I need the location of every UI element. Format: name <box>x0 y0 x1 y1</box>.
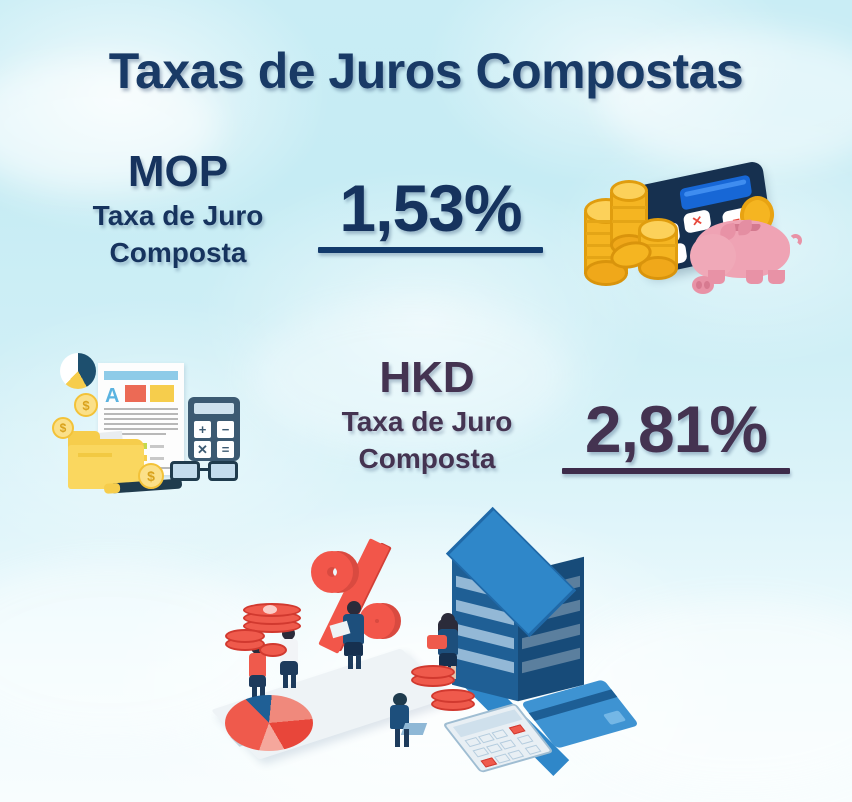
calculator-icon: + − ✕ = <box>188 397 240 461</box>
calculator-key-equals: = <box>217 441 234 458</box>
calculator-key-multiply: ✕ <box>194 441 211 458</box>
infographic-poster: Taxas de Juros Compostas MOP Taxa de Jur… <box>0 0 852 802</box>
card-chip <box>603 710 626 725</box>
rate-value-block-hkd: 2,81% <box>562 396 790 474</box>
piggybank-icon <box>690 208 798 286</box>
person-figure <box>341 601 367 669</box>
coins-calculator-piggybank-illustration: ✕ + − ÷ = <box>582 160 818 300</box>
rate-sublabel-mop-line2: Composta <box>28 236 328 269</box>
piggybank-leg <box>746 270 763 284</box>
calculator-key-minus: − <box>217 421 234 438</box>
isometric-percent-building-people-illustration <box>225 505 600 795</box>
calculator-key-plus: + <box>194 421 211 438</box>
rate-underline-hkd <box>562 468 790 474</box>
pie-chart-icon <box>225 695 313 767</box>
folder-stripe <box>78 453 112 457</box>
rate-underline-mop <box>318 247 543 253</box>
rate-sublabel-hkd-line1: Taxa de Juro <box>282 405 572 438</box>
glasses-icon <box>170 461 248 483</box>
coin-icon <box>259 643 287 661</box>
piggybank-leg <box>768 270 785 284</box>
rate-sublabel-hkd-line2: Composta <box>282 442 572 475</box>
coin-stack <box>431 683 475 713</box>
page-title: Taxas de Juros Compostas <box>0 42 852 100</box>
rate-label-mop: MOP Taxa de Juro Composta <box>28 150 328 269</box>
documents-folder-calculator-illustration: A + − ✕ <box>52 345 264 500</box>
person-figure-sitting <box>387 693 417 749</box>
currency-code-hkd: HKD <box>282 356 572 401</box>
document-letter: A <box>105 386 119 406</box>
rate-value-mop: 1,53% <box>318 175 543 241</box>
dollar-coin-icon: $ <box>74 393 98 417</box>
document-image-block <box>125 385 146 402</box>
document-image-block <box>150 385 174 402</box>
document-header-bar <box>104 371 178 380</box>
piggybank-tail <box>789 234 802 247</box>
piggybank-leg <box>708 270 725 284</box>
rate-label-hkd: HKD Taxa de Juro Composta <box>282 356 572 475</box>
dollar-coin-icon: $ <box>52 417 74 439</box>
rate-value-hkd: 2,81% <box>562 396 790 462</box>
dollar-coin-icon: $ <box>138 463 164 489</box>
rate-sublabel-mop-line1: Taxa de Juro <box>28 199 328 232</box>
currency-code-mop: MOP <box>28 150 328 195</box>
calculator-screen <box>194 403 234 414</box>
pie-chart-icon <box>60 353 96 389</box>
rate-value-block-mop: 1,53% <box>318 175 543 253</box>
